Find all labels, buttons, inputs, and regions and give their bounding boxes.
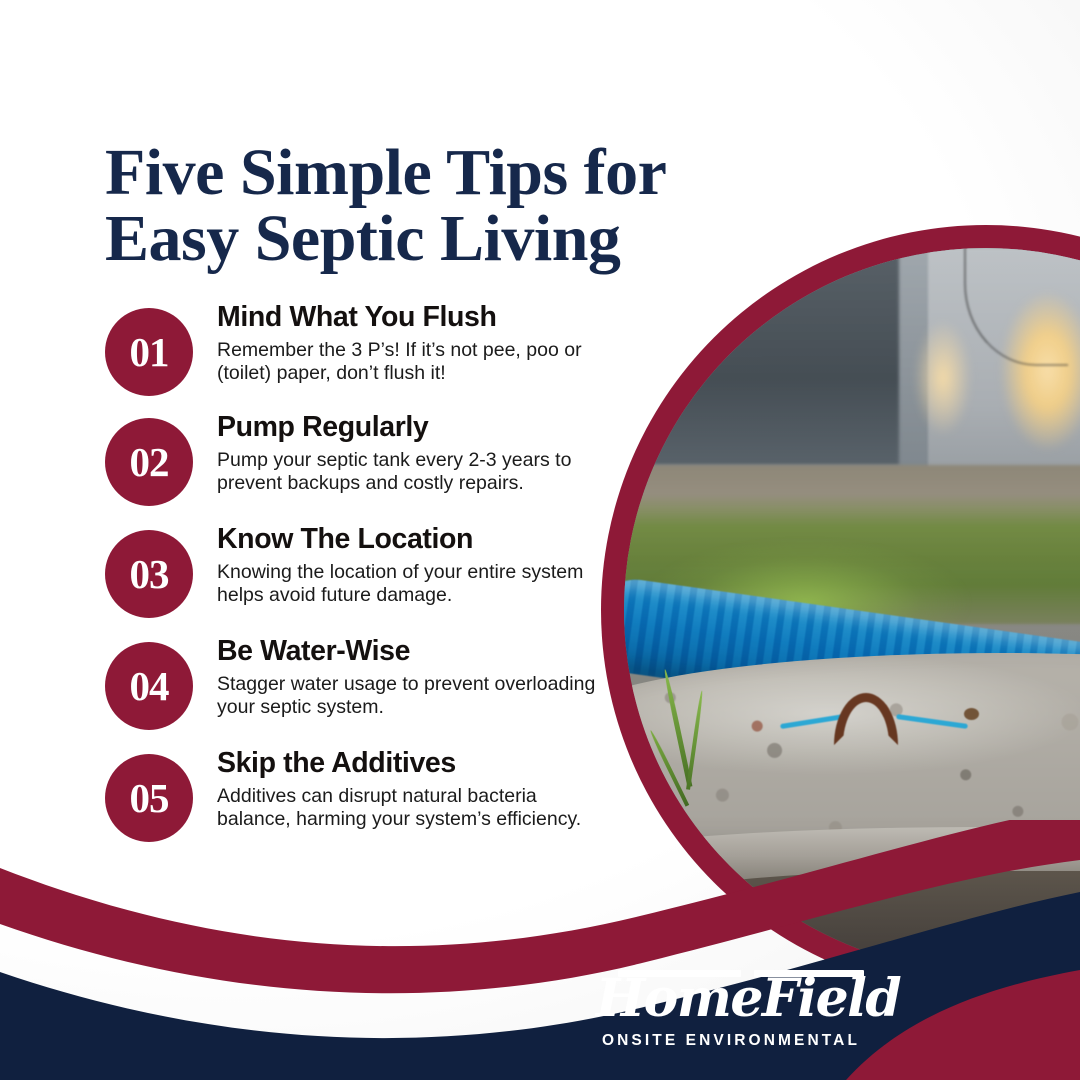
tip-number-badge: 02 [105,418,193,506]
tip-body: Be Water-Wise Stagger water usage to pre… [217,634,597,720]
tip-body: Mind What You Flush Remember the 3 P’s! … [217,300,597,386]
tip-number-badge: 03 [105,530,193,618]
tip-title: Skip the Additives [217,748,597,780]
tip-title: Know The Location [217,524,597,556]
tip-item-05: 05 Skip the Additives Additives can disr… [105,746,610,842]
infographic-canvas: Five Simple Tips for Easy Septic Living … [0,0,1080,1080]
page-title-line-1: Five Simple Tips for [105,136,666,209]
tip-title: Be Water-Wise [217,636,597,668]
tips-list: 01 Mind What You Flush Remember the 3 P’… [105,300,610,842]
page-title: Five Simple Tips for Easy Septic Living [105,140,805,272]
tip-description: Pump your septic tank every 2-3 years to… [217,449,597,496]
tip-title: Pump Regularly [217,412,597,444]
tip-description: Remember the 3 P’s! If it’s not pee, poo… [217,339,597,386]
tip-number-badge: 04 [105,642,193,730]
logo-wordmark: HomeField [596,966,866,1027]
tip-body: Know The Location Knowing the location o… [217,522,597,608]
tip-item-01: 01 Mind What You Flush Remember the 3 P’… [105,300,610,396]
tip-item-04: 04 Be Water-Wise Stagger water usage to … [105,634,610,730]
tip-body: Pump Regularly Pump your septic tank eve… [217,410,597,496]
tip-item-03: 03 Know The Location Knowing the locatio… [105,522,610,618]
tip-number-badge: 05 [105,754,193,842]
tip-item-02: 02 Pump Regularly Pump your septic tank … [105,410,610,506]
tip-body: Skip the Additives Additives can disrupt… [217,746,597,832]
tip-number-badge: 01 [105,308,193,396]
logo-tagline: ONSITE ENVIRONMENTAL [596,1032,866,1050]
tip-description: Additives can disrupt natural bacteria b… [217,785,597,832]
tip-description: Stagger water usage to prevent overloadi… [217,673,597,720]
page-title-line-2: Easy Septic Living [105,206,805,272]
footer-wave-graphics [0,820,1080,1080]
brand-logo: HomeField ONSITE ENVIRONMENTAL [596,966,866,1050]
tip-description: Knowing the location of your entire syst… [217,561,597,608]
tip-title: Mind What You Flush [217,302,597,334]
